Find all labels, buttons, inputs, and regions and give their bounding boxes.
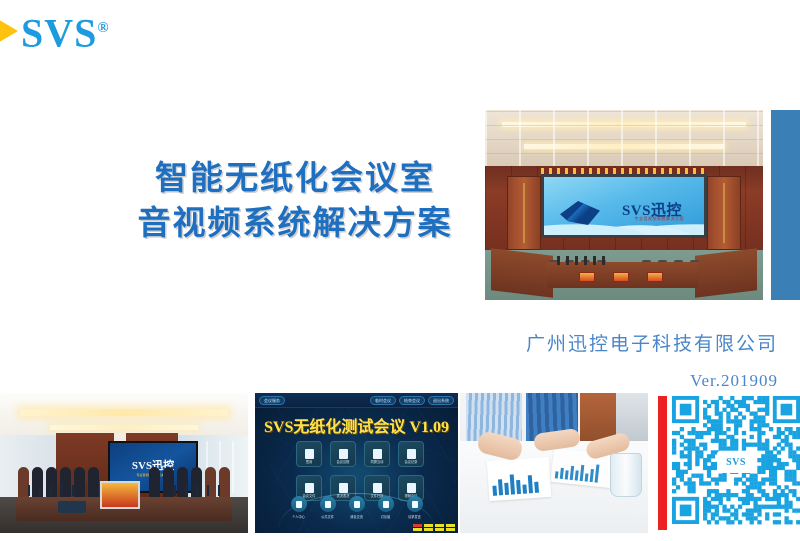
software-tile-clipboard[interactable]: 签到: [296, 441, 322, 467]
software-chip-1[interactable]: 临时会议: [370, 396, 396, 405]
chart-bar: [580, 465, 585, 481]
software-dock-label: 讨论组: [378, 514, 394, 519]
chart-bar: [565, 470, 569, 479]
thumb3-bar-chart-2: [555, 458, 600, 482]
software-dock-user[interactable]: 个人中心: [291, 496, 307, 519]
note-icon: [407, 449, 416, 459]
version-label: Ver.201909: [358, 366, 778, 396]
thumb1-microphone: [218, 485, 220, 496]
qr-code-image[interactable]: SVS: [672, 396, 800, 528]
clipboard-icon: [305, 449, 314, 459]
software-tile-label: 同屏互动: [365, 459, 389, 464]
agenda-icon: [339, 449, 348, 459]
brand-logo-text: SVS®: [21, 7, 110, 54]
thumb1-microphone: [207, 485, 209, 496]
chart-bar: [492, 486, 497, 496]
software-dock-doc[interactable]: 公共文件: [320, 496, 336, 519]
qr-red-bar: [658, 396, 667, 530]
message-glyph: [354, 501, 360, 508]
message-icon: [349, 496, 365, 512]
status-block: [413, 528, 422, 531]
screen-share-icon: [373, 449, 382, 459]
chart-bar: [555, 471, 559, 478]
chart-bar: [534, 482, 539, 493]
thumb1-microphone: [50, 485, 52, 496]
thumbnail-paperless-software: 会议服务 临时会议 结束会议 退出系统 SVS无纸化测试会议 V1.09 签到 …: [255, 393, 458, 533]
hero-door-right: [707, 176, 741, 250]
chart-bar: [585, 473, 589, 481]
thumb3-bar-chart-1: [491, 469, 539, 496]
hero-conference-room-image: SVS迅控 专业音视频系统解决方案: [485, 110, 763, 300]
camera-icon: [373, 483, 382, 493]
thumb1-mic-row-right: [174, 485, 220, 496]
doc-glyph: [325, 501, 331, 508]
folder-icon: [305, 483, 314, 493]
status-block: [435, 524, 444, 527]
thumb1-ceiling: [0, 393, 248, 441]
brand-logo: SVS®: [0, 8, 110, 54]
chart-bar: [522, 484, 527, 493]
hero-table-wing-right: [695, 248, 757, 298]
group-glyph: [383, 501, 389, 508]
chart-bar: [510, 474, 515, 494]
thumb1-microphone: [185, 485, 187, 496]
hero-led-screen: SVS迅控 专业音视频系统解决方案: [541, 174, 707, 238]
slide-root: SVS® 智能无纸化会议室 音视频系统解决方案 SVS迅控 专业音视频系统解决方…: [0, 0, 800, 541]
chart-bar: [570, 466, 574, 480]
software-tile-label: 会议记录: [399, 459, 423, 464]
software-tile-label: 会议议程: [331, 459, 355, 464]
thumb1-person: [163, 467, 174, 501]
thumb1-person: [149, 467, 160, 501]
status-block: [446, 524, 455, 527]
hero-microphone: [557, 256, 560, 265]
user-glyph: [296, 501, 302, 508]
chart-bar: [560, 468, 564, 479]
software-tile-agenda[interactable]: 会议议程: [330, 441, 356, 467]
software-dock-message[interactable]: 消息交流: [349, 496, 365, 519]
hero-microphone: [593, 256, 596, 265]
hero-desk-flag: [579, 272, 595, 282]
software-status-row: [413, 528, 455, 531]
status-block: [446, 528, 455, 531]
chart-bar: [528, 475, 533, 493]
page-title: 智能无纸化会议室 音视频系统解决方案: [110, 155, 480, 245]
thumb1-person: [74, 467, 85, 501]
video-icon: [407, 483, 416, 493]
strip-gap: [248, 393, 255, 533]
bottom-thumbnail-strip: SVS迅控 专业音视频系统解决方案: [0, 393, 800, 533]
thumb1-person: [88, 467, 99, 501]
software-title: SVS无纸化测试会议 V1.09: [255, 413, 458, 437]
thumb1-microphone: [61, 485, 63, 496]
thumb1-laptop-screen: [100, 481, 140, 509]
software-chip-3[interactable]: 退出系统: [428, 396, 454, 405]
hero-door-left: [507, 176, 541, 250]
registered-trademark-icon: ®: [97, 20, 109, 36]
software-dock-group[interactable]: 讨论组: [378, 496, 394, 519]
speak-icon: [407, 496, 423, 512]
thumb3-water-glass: [610, 453, 642, 497]
play-triangle-icon: [0, 18, 18, 44]
software-dock-label: 个人中心: [291, 514, 307, 519]
accent-side-bar: [771, 110, 800, 300]
hero-microphone-row: [557, 256, 605, 265]
thumbnail-qr-code: SVS: [648, 393, 800, 533]
chart-bar: [498, 479, 503, 495]
software-chip-2[interactable]: 结束会议: [399, 396, 425, 405]
software-tile-screen-share[interactable]: 同屏互动: [364, 441, 390, 467]
hero-microphone: [602, 256, 605, 265]
company-block: 广州迅控电子科技有限公司 Ver.201909: [358, 330, 778, 396]
software-dock-label: 消息交流: [349, 514, 365, 519]
hero-ceiling-grid: [485, 110, 763, 168]
software-dock-speak[interactable]: 请求发言: [407, 496, 423, 519]
software-dock: 个人中心 公共文件 消息交流 讨论组 请求发言: [255, 496, 458, 519]
hero-desk-flag: [647, 272, 663, 282]
chart-bar: [575, 470, 579, 480]
status-block: [435, 528, 444, 531]
status-block: [424, 528, 433, 531]
thumb1-control-terminal: [58, 501, 86, 513]
software-status-row: [413, 524, 455, 527]
thumb1-microphone: [28, 485, 30, 496]
thumb1-microphone: [72, 485, 74, 496]
chart-bar: [590, 469, 594, 482]
hero-screen-subtitle: 专业音视频系统解决方案: [635, 216, 685, 222]
doc-icon: [320, 496, 336, 512]
title-line-2: 音视频系统解决方案: [110, 200, 480, 245]
hero-microphone: [566, 256, 569, 265]
qr-container: SVS: [648, 393, 800, 533]
thumb1-microphone: [196, 485, 198, 496]
software-dock-label: 请求发言: [407, 514, 423, 519]
thumb3-chart-paper-1: [487, 457, 552, 501]
hero-microphone: [584, 256, 587, 265]
title-line-1: 智能无纸化会议室: [110, 155, 480, 200]
software-tile-grid: 签到 会议议程 同屏互动 会议记录 会议文件 表决表决 文件扫描 视频会议: [296, 441, 424, 501]
software-status-indicators: [413, 524, 455, 531]
chart-bar: [516, 480, 521, 494]
software-dock-label: 公共文件: [320, 514, 336, 519]
group-icon: [378, 496, 394, 512]
user-icon: [291, 496, 307, 512]
thumb1-person: [219, 467, 230, 501]
qr-center-logo: SVS: [717, 451, 755, 473]
chart-bar: [595, 464, 600, 482]
thumb1-microphone: [174, 485, 176, 496]
status-block: [413, 524, 422, 527]
thumbnail-discussion-photo: [460, 393, 648, 533]
vote-icon: [339, 483, 348, 493]
hero-table-wing-left: [491, 248, 553, 298]
hero-desk-flag: [613, 272, 629, 282]
chart-bar: [504, 483, 509, 495]
hero-microphone: [575, 256, 578, 265]
company-name: 广州迅控电子科技有限公司: [358, 330, 778, 360]
thumb1-microphone: [39, 485, 41, 496]
software-tile-note[interactable]: 会议记录: [398, 441, 424, 467]
software-tile-label: 签到: [297, 459, 321, 464]
thumb1-mic-row-left: [28, 485, 74, 496]
thumbnail-conference-room-photo: SVS迅控 专业音视频系统解决方案: [0, 393, 248, 533]
speak-glyph: [412, 501, 418, 508]
status-block: [424, 524, 433, 527]
brand-logo-label: SVS: [21, 11, 97, 56]
software-chip-0[interactable]: 会议服务: [259, 396, 285, 405]
